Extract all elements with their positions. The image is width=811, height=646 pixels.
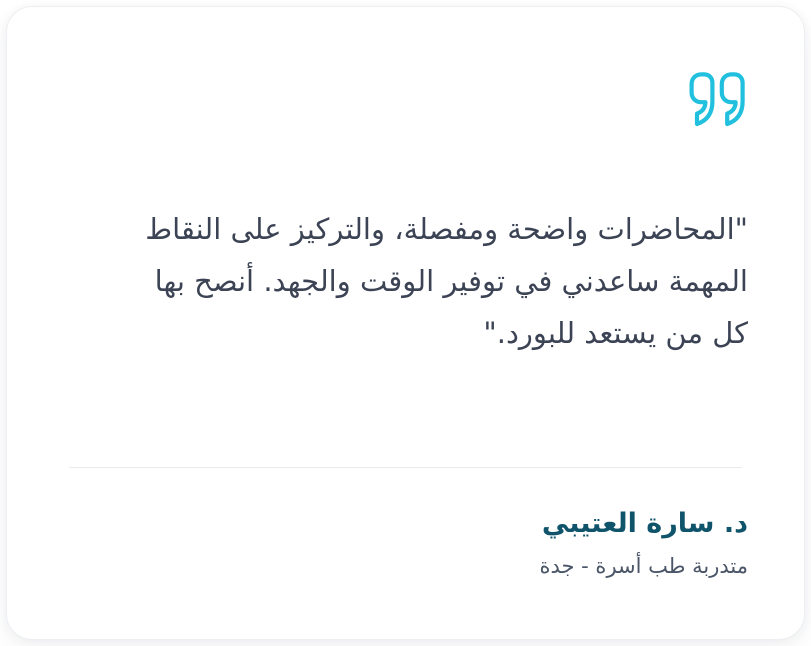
testimonial-card: "المحاضرات واضحة ومفصلة، والتركيز على ال… (6, 6, 805, 640)
author-name: د. سارة العتيبي (63, 505, 748, 543)
quote-line-1: "المحاضرات واضحة ومفصلة، والتركيز على ال… (63, 203, 748, 255)
testimonial-attribution: د. سارة العتيبي متدربة طب أسرة - جدة (63, 505, 748, 581)
quote-line-2: المهمة ساعدني في توفير الوقت والجهد. أنص… (63, 255, 748, 307)
quote-line-3: كل من يستعد للبورد." (63, 307, 748, 359)
double-quote-icon (686, 69, 748, 129)
author-role: متدربة طب أسرة - جدة (63, 551, 748, 581)
testimonial-quote: "المحاضرات واضحة ومفصلة، والتركيز على ال… (63, 203, 748, 359)
section-divider (69, 467, 742, 468)
